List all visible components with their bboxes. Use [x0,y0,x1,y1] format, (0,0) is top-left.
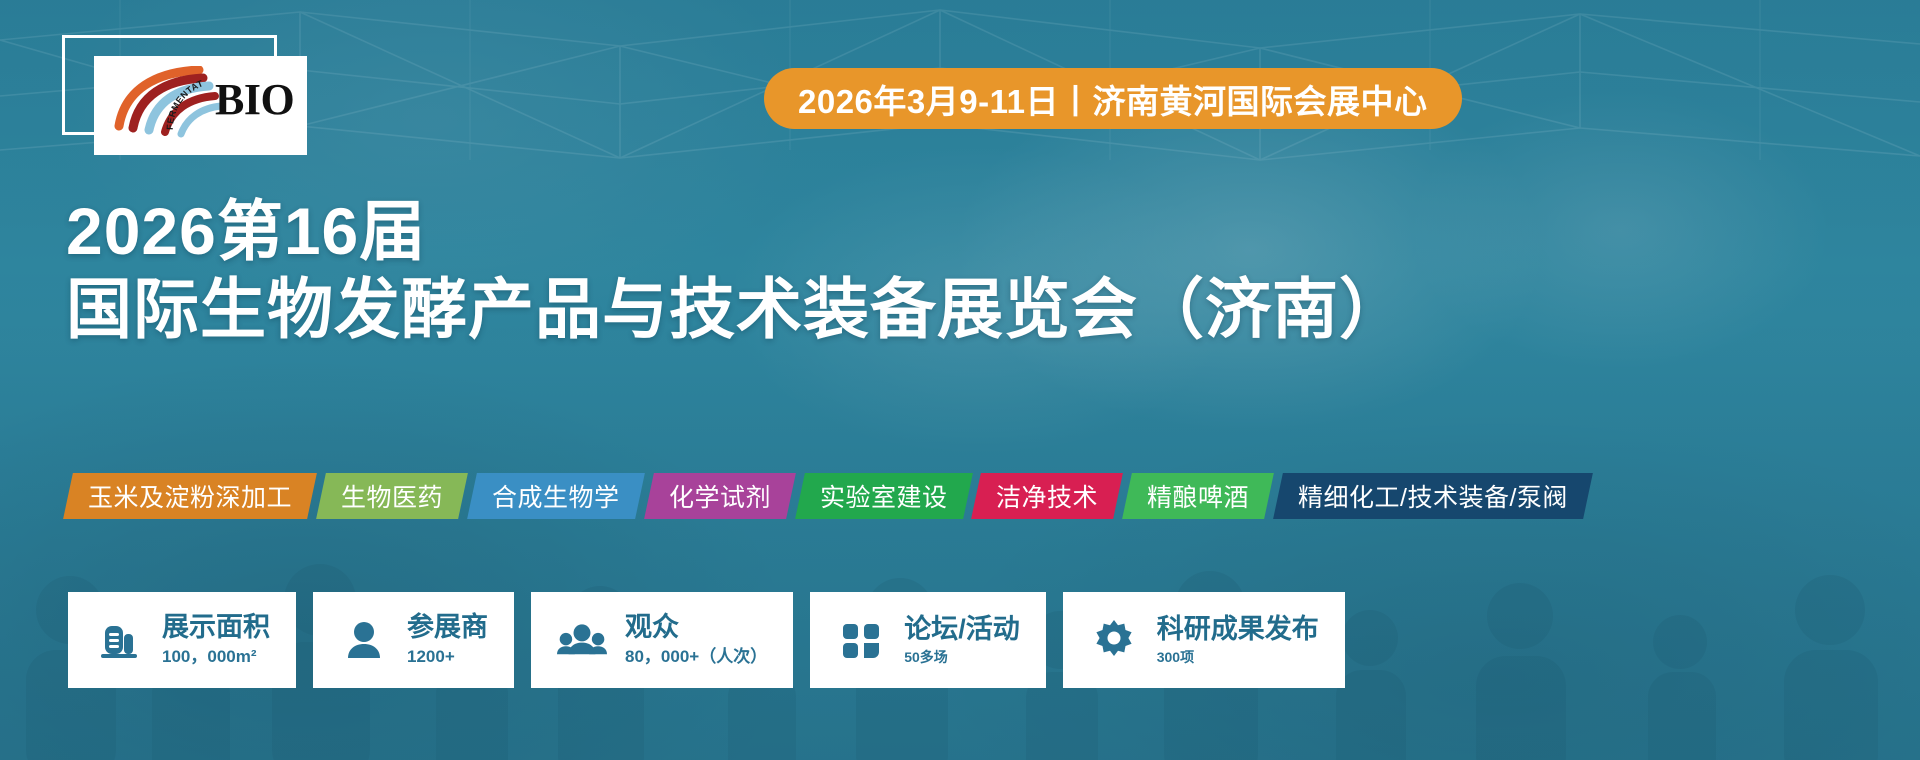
building-icon [94,618,144,662]
stat-card-text: 论坛/活动50多场 [904,614,1020,666]
stat-card-value: 50多场 [904,648,1020,666]
event-date-venue-badge: 2026年3月9-11日丨济南黄河国际会展中心 [764,68,1462,129]
stat-card-title: 论坛/活动 [904,614,1020,645]
exhibition-promo-banner: FERMENTATION BIO 2026年3月9-11日丨济南黄河国际会展中心… [0,0,1920,760]
stat-card-value: 80，000+（人次） [625,646,767,668]
category-tag-label: 玉米及淀粉深加工 [88,478,292,514]
category-tag[interactable]: 实验室建设 [795,473,972,519]
category-tag-label: 实验室建设 [820,478,948,514]
stat-card-text: 参展商1200+ [407,612,488,668]
stat-card-text: 科研成果发布300项 [1157,614,1319,666]
category-tag-label: 生物医药 [341,478,443,514]
logo-block: FERMENTATION BIO [62,35,307,155]
category-tag[interactable]: 玉米及淀粉深加工 [63,473,317,519]
title-line-2: 国际生物发酵产品与技术装备展览会（济南） [66,273,1546,347]
logo-plate: FERMENTATION BIO [94,56,307,155]
stat-card[interactable]: 展示面积100，000m² [68,592,296,688]
stat-card-title: 科研成果发布 [1157,614,1319,645]
category-tag[interactable]: 化学试剂 [644,473,796,519]
category-tag-label: 精酿啤酒 [1147,478,1249,514]
category-tag-list: 玉米及淀粉深加工生物医药合成生物学化学试剂实验室建设洁净技术精酿啤酒精细化工/技… [68,473,1588,519]
stat-card-value: 100，000m² [162,646,270,668]
stat-card-text: 展示面积100，000m² [162,612,270,668]
stat-card[interactable]: 科研成果发布300项 [1063,592,1345,688]
gear-icon [1089,618,1139,662]
stat-card-title: 观众 [625,612,767,643]
stat-card-title: 展示面积 [162,612,270,643]
stat-card[interactable]: 观众80，000+（人次） [531,592,793,688]
category-tag-label: 合成生物学 [492,478,620,514]
page-title: 2026第16届 国际生物发酵产品与技术装备展览会（济南） [66,196,1546,347]
category-tag[interactable]: 合成生物学 [467,473,644,519]
person-icon [339,618,389,662]
stat-card-title: 参展商 [407,612,488,643]
people-icon [557,618,607,662]
grid-icon [836,618,886,662]
stat-card-value: 300项 [1157,648,1319,666]
category-tag[interactable]: 精酿啤酒 [1122,473,1274,519]
category-tag-label: 洁净技术 [996,478,1098,514]
title-line-1: 2026第16届 [66,196,1546,267]
bio-fermentation-logo-icon: FERMENTATION BIO [103,66,299,146]
stat-card[interactable]: 参展商1200+ [313,592,514,688]
category-tag-label: 精细化工/技术装备/泵阀 [1298,478,1568,514]
stat-card[interactable]: 论坛/活动50多场 [810,592,1046,688]
svg-text:BIO: BIO [215,75,294,124]
category-tag-label: 化学试剂 [669,478,771,514]
category-tag[interactable]: 精细化工/技术装备/泵阀 [1273,473,1593,519]
stat-card-text: 观众80，000+（人次） [625,612,767,668]
category-tag[interactable]: 洁净技术 [971,473,1123,519]
category-tag[interactable]: 生物医药 [316,473,468,519]
stat-card-value: 1200+ [407,646,488,668]
stat-card-list: 展示面积100，000m²参展商1200+观众80，000+（人次）论坛/活动5… [68,592,1345,688]
